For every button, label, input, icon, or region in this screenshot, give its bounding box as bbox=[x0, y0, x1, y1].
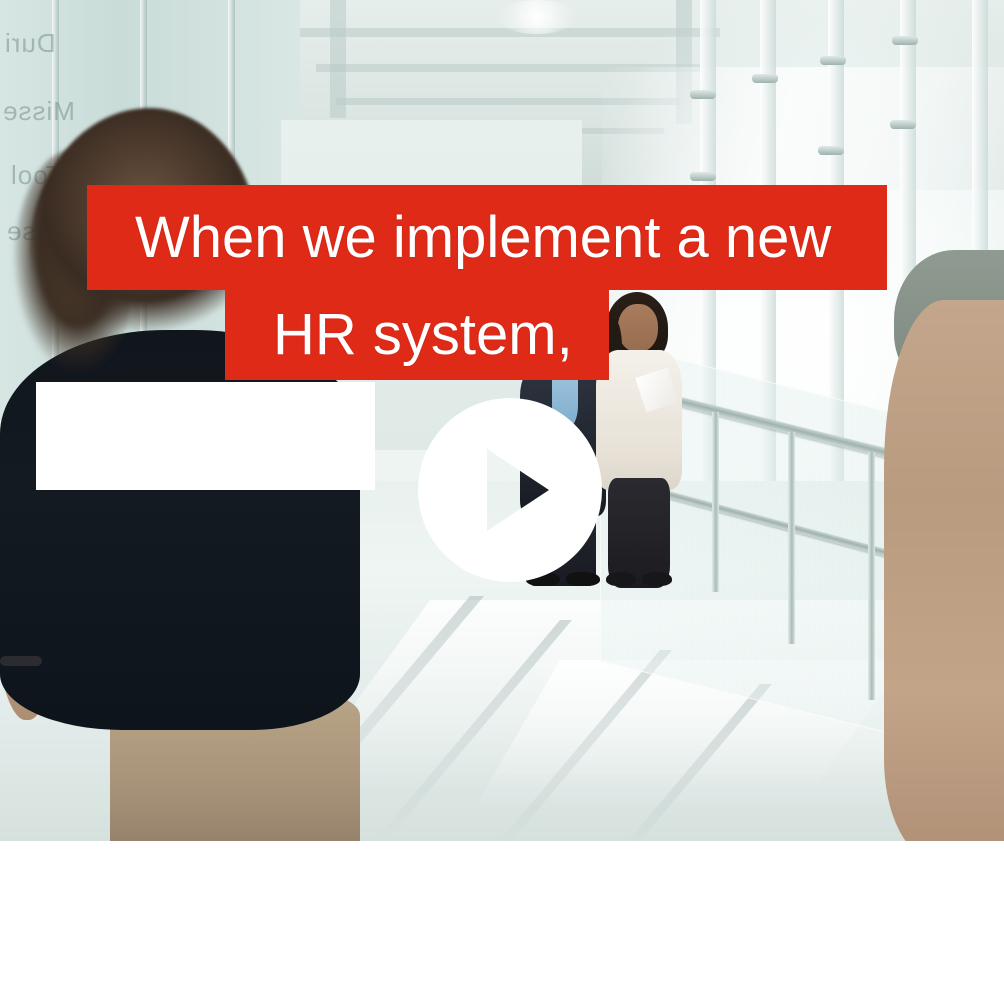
glass-fitting bbox=[818, 146, 844, 155]
glass-fitting bbox=[690, 172, 716, 181]
video-post-card: Duri Misse Tool Usse bbox=[0, 0, 1004, 984]
person-woman-shoe bbox=[642, 572, 672, 586]
glass-fitting bbox=[892, 36, 918, 45]
person-woman-face bbox=[618, 304, 658, 352]
caption-line-2-text: HR system, bbox=[273, 306, 573, 364]
play-icon[interactable] bbox=[417, 397, 603, 583]
person-foreground-wristband bbox=[0, 656, 42, 666]
railing-post bbox=[868, 452, 875, 700]
caption-line-2: HR system, bbox=[225, 290, 609, 380]
caption-line-1-text: When we implement a new bbox=[135, 209, 831, 267]
glass-fitting bbox=[890, 120, 916, 129]
video-player[interactable]: Duri Misse Tool Usse bbox=[0, 0, 1004, 841]
play-button[interactable] bbox=[417, 397, 603, 583]
caption-line-3-blank bbox=[36, 382, 375, 490]
railing-post bbox=[788, 432, 795, 644]
caption-line-1: When we implement a new bbox=[87, 185, 887, 290]
glass-fitting bbox=[820, 56, 846, 65]
person-woman-shoe bbox=[606, 572, 636, 586]
glass-ghost-text: Misse bbox=[2, 96, 75, 127]
person-right-arm bbox=[884, 300, 1004, 841]
railing-post bbox=[712, 412, 719, 592]
glass-fitting bbox=[752, 74, 778, 83]
glass-fitting bbox=[690, 90, 716, 99]
glass-ghost-text: Duri bbox=[4, 28, 56, 59]
footer-bar: pwc HR Excellence Awards 2020 bbox=[0, 841, 1004, 984]
